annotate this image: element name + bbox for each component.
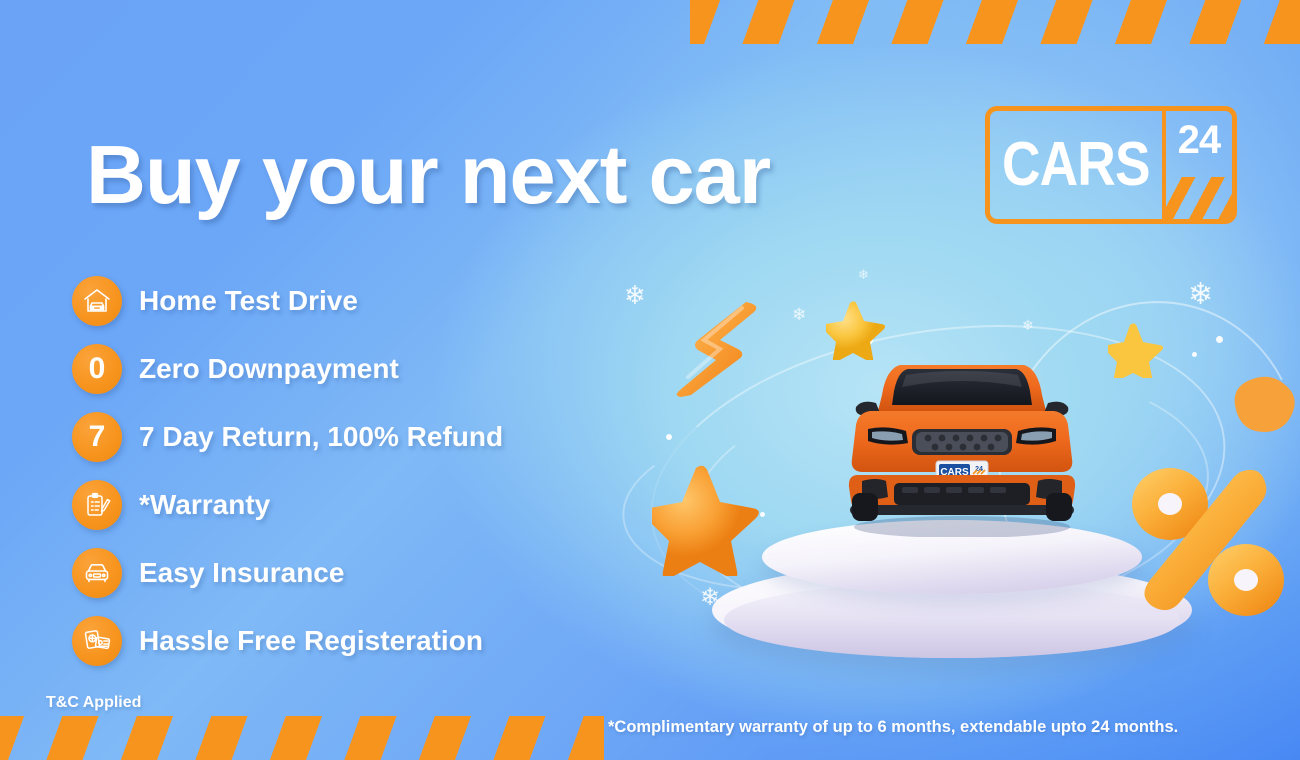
- list-item-label: Home Test Drive: [139, 285, 358, 317]
- cars24-promo-banner: Buy your next car CARS 24 Home Tes: [0, 0, 1300, 760]
- snowflake-icon: ❄: [1188, 280, 1213, 310]
- product-podium: [712, 520, 1192, 660]
- cars24-logo: CARS 24: [985, 106, 1237, 224]
- list-item: Hassle Free Registeration: [72, 616, 503, 666]
- list-item: 0 Zero Downpayment: [72, 344, 503, 394]
- sparkle-dot: [760, 512, 765, 517]
- snowflake-icon: ❄: [858, 268, 869, 281]
- logo-number: 24: [1178, 120, 1221, 160]
- list-item: Easy Insurance: [72, 548, 503, 598]
- seven-icon: 7: [72, 412, 122, 462]
- snowflake-icon: ❄: [700, 586, 720, 610]
- feature-list: Home Test Drive 0 Zero Downpayment 7 7 D…: [72, 276, 503, 666]
- terms-note: T&C Applied: [46, 694, 141, 712]
- hazard-stripes-top: [690, 0, 1300, 44]
- zero-icon: 0: [72, 344, 122, 394]
- insurance-car-icon: [72, 548, 122, 598]
- list-item-label: Easy Insurance: [139, 557, 344, 589]
- registration-icon: [72, 616, 122, 666]
- snowflake-icon: ❄: [1022, 318, 1034, 332]
- swirl-decoration: [678, 346, 1221, 649]
- warranty-disclaimer: *Complimentary warranty of up to 6 month…: [608, 718, 1178, 737]
- logo-word: CARS: [1002, 134, 1150, 196]
- sparkle-dot: [1246, 596, 1251, 601]
- podium-disc-top: [762, 520, 1142, 594]
- badge-value: 0: [89, 354, 106, 384]
- sparkle-dot: [1192, 352, 1197, 357]
- car-image: CARS 24: [836, 337, 1088, 537]
- snowflake-icon: ❄: [1108, 602, 1121, 617]
- logo-word-box: CARS: [990, 111, 1166, 219]
- list-item: *Warranty: [72, 480, 503, 530]
- svg-text:CARS: CARS: [940, 467, 969, 478]
- snowflake-icon: ❄: [792, 306, 806, 323]
- hazard-stripes-bottom: [0, 716, 604, 760]
- percent-symbol-icon: [1128, 462, 1292, 622]
- sparkle-dot: [666, 434, 672, 440]
- star-icon: [826, 300, 888, 360]
- star-icon: [1108, 322, 1166, 378]
- logo-number-box: 24: [1166, 111, 1232, 219]
- swirl-decoration: [960, 265, 1300, 665]
- page-title: Buy your next car: [86, 133, 770, 216]
- list-item: Home Test Drive: [72, 276, 503, 326]
- warranty-icon: [72, 480, 122, 530]
- list-item-label: Hassle Free Registeration: [139, 625, 483, 657]
- logo-stripes-icon: [1166, 177, 1232, 219]
- sparkle-dot: [864, 336, 873, 345]
- list-item: 7 7 Day Return, 100% Refund: [72, 412, 503, 462]
- list-item-label: Zero Downpayment: [139, 353, 399, 385]
- swirl-decoration: [617, 408, 988, 603]
- lightning-bolt-icon: [668, 296, 788, 406]
- svg-text:24: 24: [975, 466, 983, 473]
- swirl-decoration: [628, 286, 1248, 673]
- list-item-label: 7 Day Return, 100% Refund: [139, 421, 503, 453]
- list-item-label: *Warranty: [139, 489, 270, 521]
- home-test-drive-icon: [72, 276, 122, 326]
- snowflake-icon: ❄: [624, 282, 646, 308]
- sparkle-dot: [946, 632, 953, 639]
- sparkle-dot: [1216, 336, 1223, 343]
- orange-blob-icon: [1228, 368, 1300, 438]
- podium-disc-shade: [724, 582, 1180, 658]
- badge-value: 7: [89, 422, 106, 452]
- podium-disc-bottom: [712, 562, 1192, 658]
- star-icon: [652, 464, 772, 576]
